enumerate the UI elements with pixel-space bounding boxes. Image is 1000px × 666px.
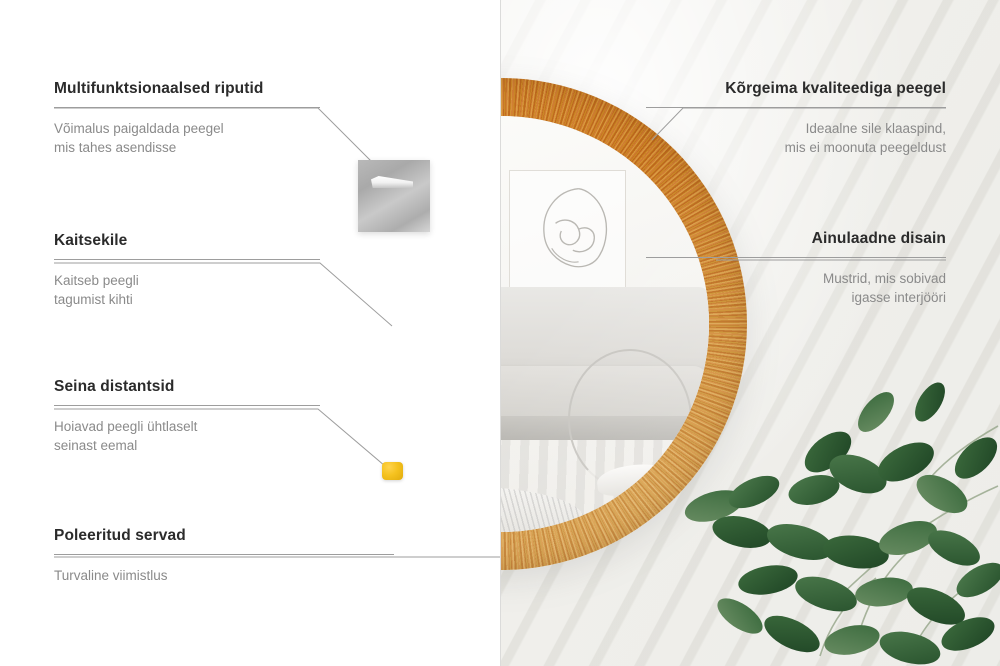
callout-unique-design: Ainulaadne disain Mustrid, mis sobivad i… — [646, 230, 946, 307]
callout-wall-spacers-title: Seina distantsid — [54, 378, 320, 396]
callout-hangers-rule — [54, 107, 320, 108]
callout-hangers-title: Multifunktsionaalsed riputid — [54, 80, 320, 98]
callout-wall-spacers: Seina distantsid Hoiavad peegli ühtlasel… — [54, 378, 320, 455]
callout-unique-design-body: Mustrid, mis sobivad igasse interjööri — [646, 269, 946, 307]
callout-wall-spacers-body: Hoiavad peegli ühtlaselt seinast eemal — [54, 417, 320, 455]
callout-polished-edges-body: Turvaline viimistlus — [54, 566, 394, 585]
callout-protective-film-body: Kaitseb peegli tagumist kihti — [54, 271, 320, 309]
callout-wall-spacers-rule — [54, 405, 320, 406]
callout-quality-mirror: Kõrgeima kvaliteediga peegel Ideaalne si… — [646, 80, 946, 157]
hanger-slot-icon — [371, 176, 413, 188]
line-art-face-icon — [519, 181, 615, 287]
infographic-stage: Multifunktsionaalsed riputid Võimalus pa… — [0, 0, 1000, 666]
callout-unique-design-title: Ainulaadne disain — [646, 230, 946, 248]
callout-protective-film-rule — [54, 259, 320, 260]
callout-protective-film-title: Kaitsekile — [54, 232, 320, 250]
callout-hangers-body: Võimalus paigaldada peegel mis tahes ase… — [54, 119, 320, 157]
wall-spacer — [382, 462, 403, 480]
mirror-glass — [500, 116, 709, 532]
callout-quality-mirror-rule — [646, 107, 946, 108]
panel-divider — [500, 0, 501, 666]
callout-polished-edges-rule — [54, 554, 394, 555]
callout-protective-film: Kaitsekile Kaitseb peegli tagumist kihti — [54, 232, 320, 309]
hanger-plate — [358, 160, 430, 232]
callout-quality-mirror-body: Ideaalne sile klaaspind, mis ei moonuta … — [646, 119, 946, 157]
callout-polished-edges: Poleeritud servad Turvaline viimistlus — [54, 527, 394, 585]
callout-polished-edges-title: Poleeritud servad — [54, 527, 394, 545]
callout-quality-mirror-title: Kõrgeima kvaliteediga peegel — [646, 80, 946, 98]
callout-unique-design-rule — [646, 257, 946, 258]
foliage-branch — [680, 366, 1000, 666]
reflected-picture-frame — [509, 170, 625, 295]
callout-hangers: Multifunktsionaalsed riputid Võimalus pa… — [54, 80, 320, 157]
